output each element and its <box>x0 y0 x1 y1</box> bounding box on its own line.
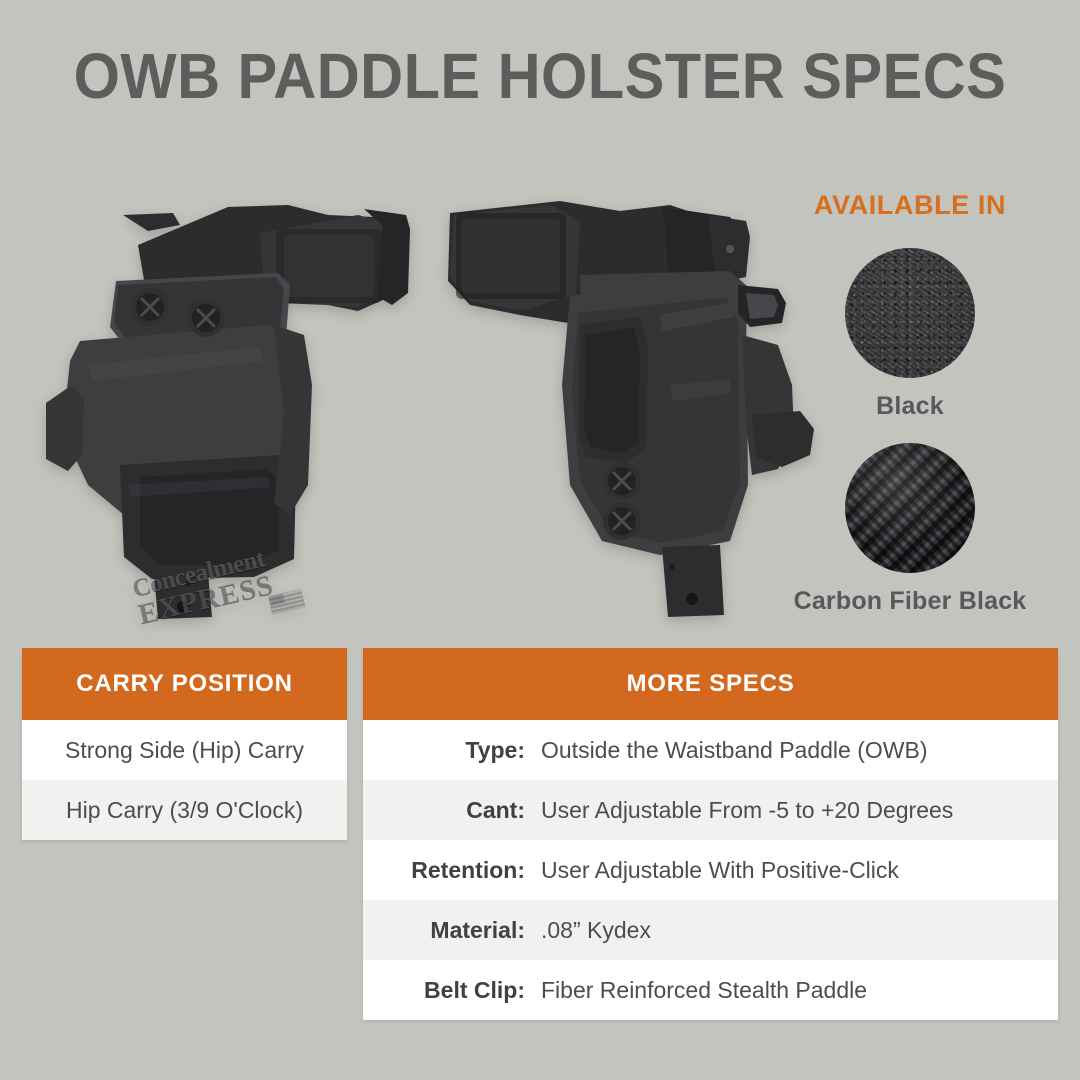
spec-label-cant: Cant: <box>363 797 533 824</box>
spec-value-cant: User Adjustable From -5 to +20 Degrees <box>533 797 953 824</box>
holster-left-svg <box>28 185 438 625</box>
table-row: Type: Outside the Waistband Paddle (OWB) <box>363 720 1058 780</box>
page-title: OWB PADDLE HOLSTER SPECS <box>38 44 1042 109</box>
swatch-black-icon[interactable] <box>845 248 975 378</box>
screw-icon <box>131 288 169 326</box>
screw-icon <box>187 299 225 337</box>
carry-position-table: CARRY POSITION Strong Side (Hip) Carry H… <box>22 648 347 840</box>
spec-label-retention: Retention: <box>363 857 533 884</box>
spec-value-type: Outside the Waistband Paddle (OWB) <box>533 737 928 764</box>
swatch-carbon-fiber-label: Carbon Fiber Black <box>760 587 1060 616</box>
screw-icon <box>603 502 641 540</box>
color-option-carbon-fiber-black[interactable]: Carbon Fiber Black <box>760 443 1060 616</box>
swatch-carbon-fiber-icon[interactable] <box>845 443 975 573</box>
color-option-black[interactable]: Black <box>760 248 1060 421</box>
table-row: Material: .08” Kydex <box>363 900 1058 960</box>
spec-label-type: Type: <box>363 737 533 764</box>
holster-paddle-side-image: Concealment EXPRESS <box>28 185 438 625</box>
spec-value-material: .08” Kydex <box>533 917 651 944</box>
spec-label-belt-clip: Belt Clip: <box>363 977 533 1004</box>
swatch-black-label: Black <box>760 392 1060 421</box>
spec-label-material: Material: <box>363 917 533 944</box>
table-row: Strong Side (Hip) Carry <box>22 720 347 780</box>
table-row: Hip Carry (3/9 O'Clock) <box>22 780 347 840</box>
more-specs-header: MORE SPECS <box>363 648 1058 720</box>
table-row: Belt Clip: Fiber Reinforced Stealth Padd… <box>363 960 1058 1020</box>
available-in-section: AVAILABLE IN <box>760 190 1060 221</box>
carry-position-value: Strong Side (Hip) Carry <box>22 737 347 764</box>
spec-value-retention: User Adjustable With Positive-Click <box>533 857 899 884</box>
table-row: Cant: User Adjustable From -5 to +20 Deg… <box>363 780 1058 840</box>
carry-position-header: CARRY POSITION <box>22 648 347 720</box>
spec-value-belt-clip: Fiber Reinforced Stealth Paddle <box>533 977 867 1004</box>
more-specs-table: MORE SPECS Type: Outside the Waistband P… <box>363 648 1058 1020</box>
table-row: Retention: User Adjustable With Positive… <box>363 840 1058 900</box>
available-in-heading: AVAILABLE IN <box>760 190 1060 221</box>
screw-icon <box>603 462 641 500</box>
carry-position-value: Hip Carry (3/9 O'Clock) <box>22 797 347 824</box>
